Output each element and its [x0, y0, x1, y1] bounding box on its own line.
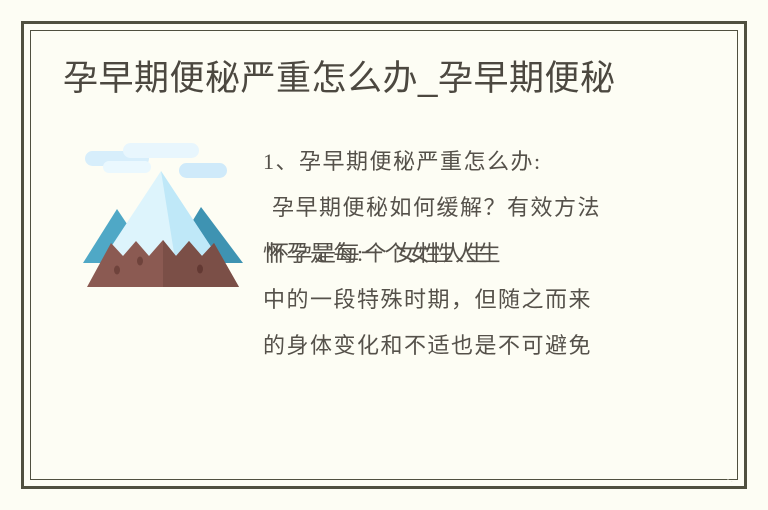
- cloud-icon: [179, 163, 227, 178]
- body-line-4: 中的一段特殊时期，但随之而来: [263, 277, 709, 323]
- watermark: ·.: [727, 474, 735, 484]
- article-body-text: 1、孕早期便秘严重怎么办: 孕早期便秘如何缓解？有效方法 怀孕是每一个女性人生 …: [263, 139, 709, 401]
- body-line-1: 1、孕早期便秘严重怎么办:: [263, 139, 709, 185]
- mountain-landscape-icon: [83, 137, 243, 297]
- cloud-icon: [103, 161, 151, 173]
- article-body-row: 1、孕早期便秘严重怎么办: 孕早期便秘如何缓解？有效方法 怀孕是每一个女性人生 …: [59, 137, 709, 401]
- page-title: 孕早期便秘严重怎么办_孕早期便秘: [59, 55, 697, 103]
- body-line-3: 怀孕是每:个 女性人生: [263, 231, 489, 277]
- rock-speckle: [114, 266, 120, 275]
- rock-speckle: [137, 257, 143, 266]
- rock-speckle: [197, 265, 203, 274]
- cloud-icon: [123, 143, 199, 158]
- card-content: 孕早期便秘严重怎么办_孕早期便秘: [31, 31, 737, 479]
- body-line-5: 的身体变化和不适也是不可避免: [263, 323, 709, 369]
- article-card-page: 孕早期便秘严重怎么办_孕早期便秘: [0, 0, 768, 510]
- body-line-2: 孕早期便秘如何缓解？有效方法: [263, 185, 709, 231]
- body-line-3-overlap: 怀孕是每一个女性人生 怀孕是每:个 女性人生: [263, 231, 709, 277]
- article-thumbnail[interactable]: [83, 137, 243, 297]
